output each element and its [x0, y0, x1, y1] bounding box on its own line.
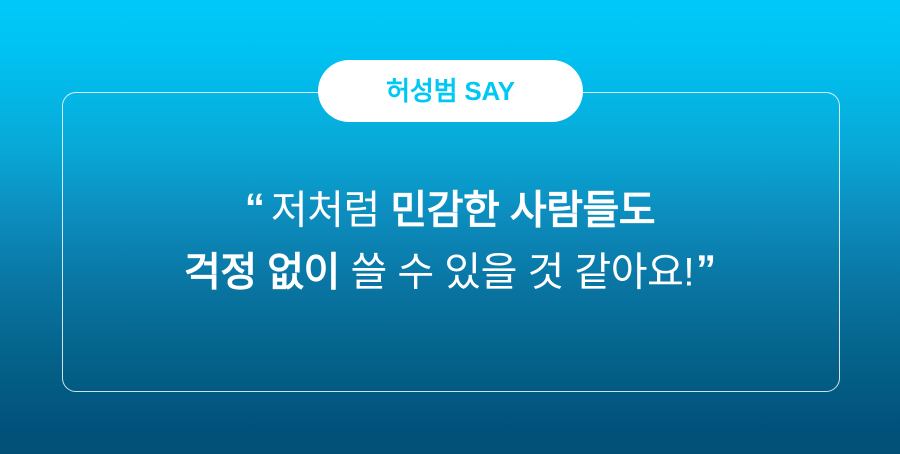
- quote-line-2: 걱정 없이 쓸 수 있을 것 같아요!”: [0, 240, 900, 302]
- close-quote-mark: ”: [696, 248, 716, 292]
- quote-text: “저처럼 민감한 사람들도 걱정 없이 쓸 수 있을 것 같아요!”: [0, 178, 900, 303]
- quote-line-1: “저처럼 민감한 사람들도: [0, 178, 900, 240]
- quote-line-2-bold: 걱정 없이: [184, 251, 340, 295]
- speaker-badge: 허성범 SAY: [318, 60, 583, 122]
- testimonial-banner: 허성범 SAY “저처럼 민감한 사람들도 걱정 없이 쓸 수 있을 것 같아요…: [0, 0, 900, 454]
- speaker-badge-label: 허성범 SAY: [386, 78, 515, 104]
- open-quote-mark: “: [245, 186, 265, 230]
- quote-line-1-regular: 저처럼: [271, 188, 391, 232]
- quote-line-1-bold: 민감한 사람들도: [390, 188, 655, 232]
- quote-line-2-regular: 쓸 수 있을 것 같아요!: [340, 251, 694, 295]
